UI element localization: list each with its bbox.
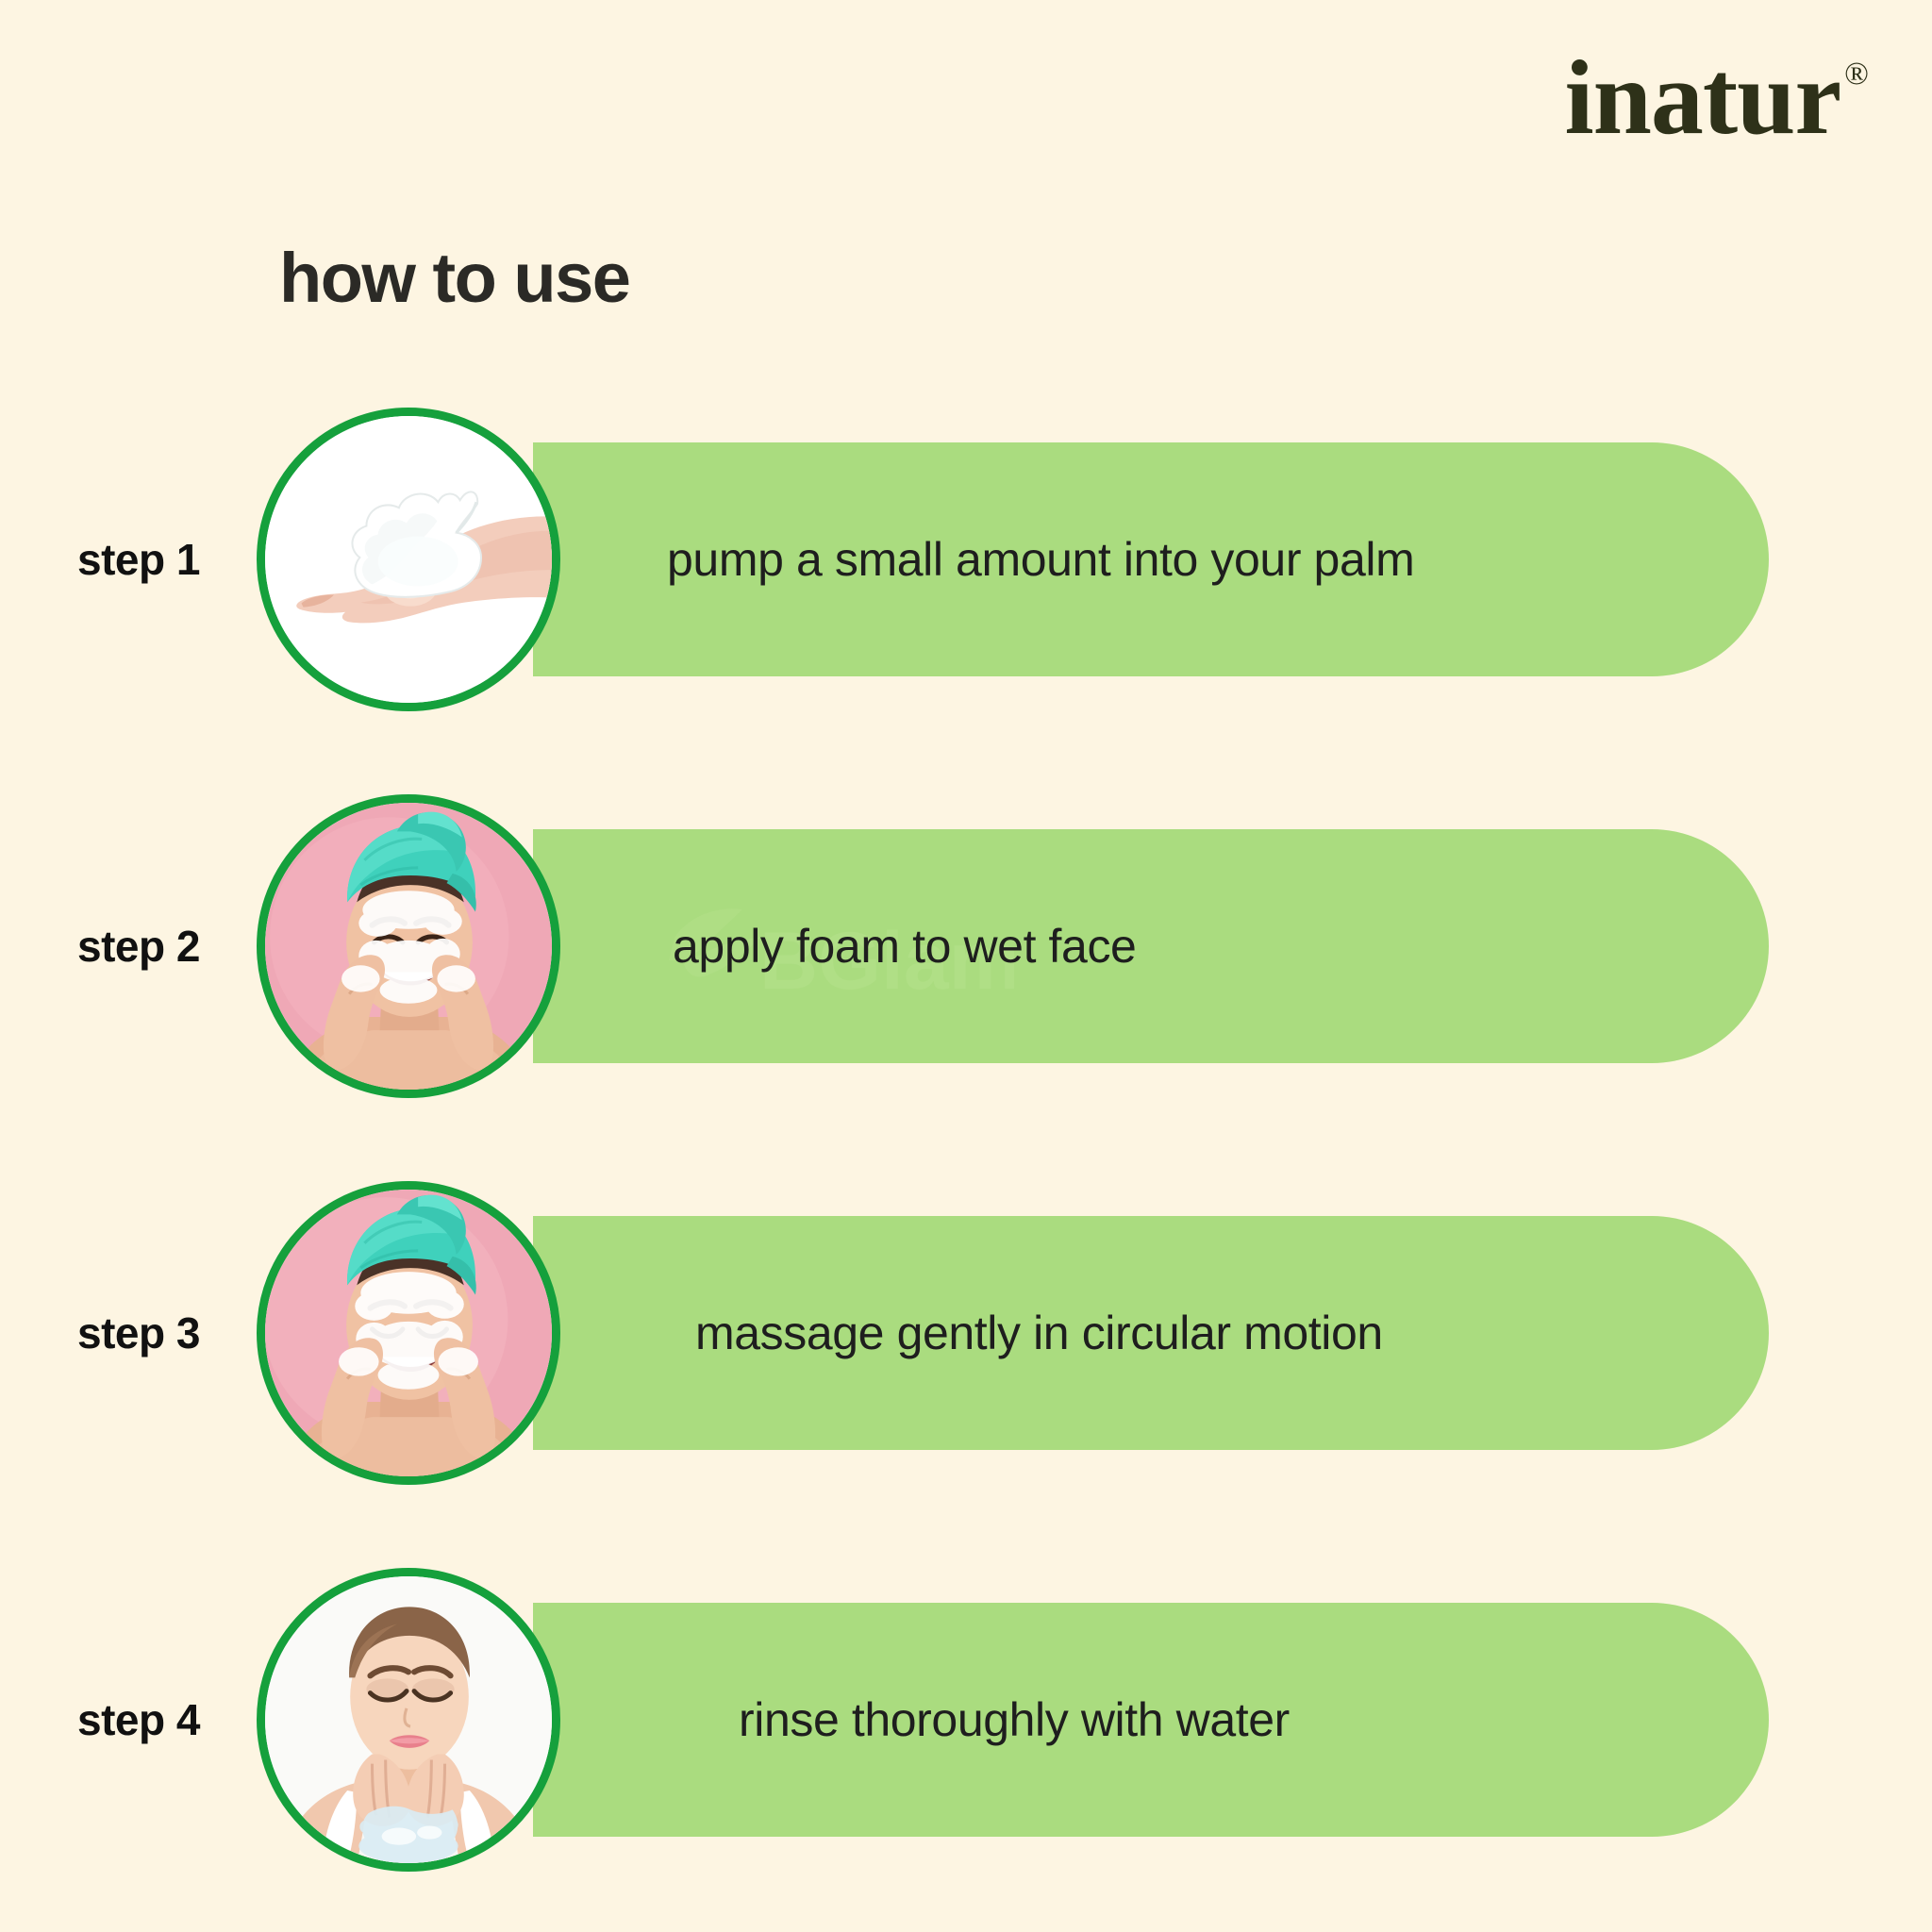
- step-bar-3: massage gently in circular motion: [533, 1216, 1769, 1450]
- list-item: step 4 rinse thoroughly with water: [0, 1526, 1932, 1913]
- how-to-use-infographic: inatur ® how to use step 1 pump a small …: [0, 0, 1932, 1932]
- list-item: step 2 BGlam apply foam to wet face: [0, 753, 1932, 1140]
- step-label-2: step 2: [77, 921, 275, 972]
- step-text-1: pump a small amount into your palm: [667, 532, 1414, 587]
- step-label-1: step 1: [77, 534, 275, 585]
- step-label-3: step 3: [77, 1307, 275, 1358]
- registered-trademark-icon: ®: [1844, 58, 1868, 91]
- step-image-1: [257, 408, 560, 711]
- step-image-3: [257, 1181, 560, 1485]
- page-title: how to use: [279, 238, 629, 318]
- step-text-2: apply foam to wet face: [673, 919, 1136, 974]
- step-image-2: [257, 794, 560, 1098]
- hand-with-foam-icon: [265, 416, 552, 703]
- step-text-3: massage gently in circular motion: [695, 1306, 1383, 1360]
- step-text-4: rinse thoroughly with water: [739, 1692, 1290, 1747]
- step-label-4: step 4: [77, 1694, 275, 1745]
- step-bar-4: rinse thoroughly with water: [533, 1603, 1769, 1837]
- steps-list: step 1 pump a small amount into your pal…: [0, 366, 1932, 1913]
- brand-logo: inatur ®: [1564, 45, 1868, 151]
- woman-applying-foam-icon: [265, 803, 552, 1090]
- woman-rinsing-face-icon: [265, 1576, 552, 1863]
- step-bar-2: BGlam apply foam to wet face: [533, 829, 1769, 1063]
- woman-massaging-face-icon: [265, 1190, 552, 1476]
- step-image-4: [257, 1568, 560, 1872]
- list-item: step 1 pump a small amount into your pal…: [0, 366, 1932, 753]
- list-item: step 3 massage gently in circular motion: [0, 1140, 1932, 1526]
- step-bar-1: pump a small amount into your palm: [533, 442, 1769, 676]
- brand-name: inatur: [1564, 45, 1840, 151]
